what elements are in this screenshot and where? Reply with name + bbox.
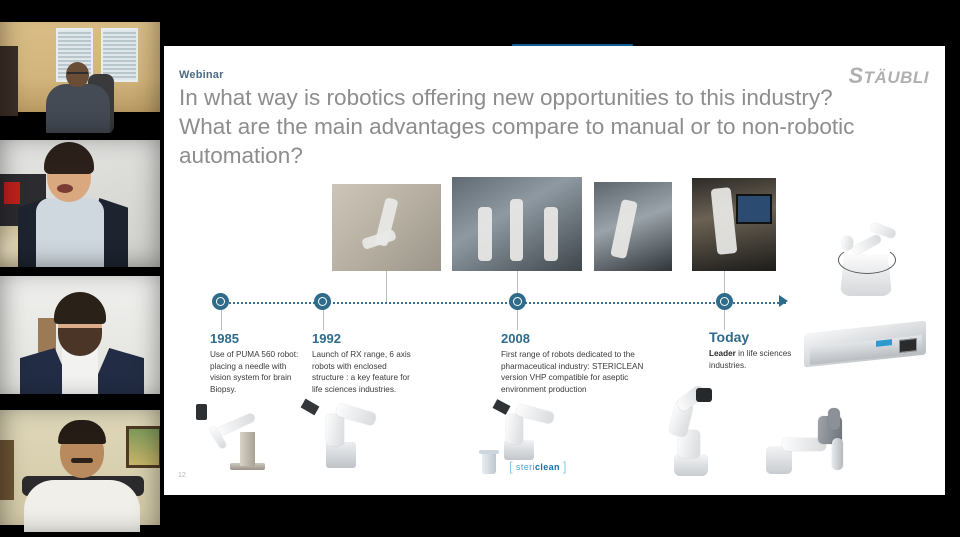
event-year: Today — [709, 329, 793, 345]
timeline-event-today: Today Leader in life sciences industries… — [709, 329, 793, 371]
participant-tile-3[interactable] — [0, 268, 160, 402]
robot-controller — [804, 319, 932, 371]
timeline-dot-today[interactable] — [716, 293, 733, 310]
event-text: Launch of RX range, 6 axis robots with e… — [312, 349, 416, 396]
robot-2008 — [494, 402, 580, 464]
robot-1985 — [196, 404, 274, 476]
event-text: Use of PUMA 560 robot: placing a needle … — [210, 349, 302, 396]
webinar-screen: Webinar STÄUBLI In what way is robotics … — [0, 0, 960, 537]
timeline-event-2008: 2008 First range of robots dedicated to … — [501, 331, 651, 396]
timeline-event-1992: 1992 Launch of RX range, 6 axis robots w… — [312, 331, 416, 396]
timeline-dot-1985[interactable] — [212, 293, 229, 310]
mobile-robot-cart — [822, 218, 914, 302]
photo-robot-arm — [594, 182, 672, 271]
timeline-arrow-icon — [779, 295, 788, 307]
event-text-bold: Leader — [709, 349, 736, 358]
robot-today-b — [760, 402, 872, 482]
event-text: Leader in life sciences industries. — [709, 348, 793, 371]
robot-1992 — [302, 402, 388, 476]
timeline-event-1985: 1985 Use of PUMA 560 robot: placing a ne… — [210, 331, 302, 396]
event-text: First range of robots dedicated to the p… — [501, 349, 651, 396]
presentation-slide: Webinar STÄUBLI In what way is robotics … — [164, 46, 945, 495]
event-year: 1992 — [312, 331, 416, 346]
participant-tile-2[interactable] — [0, 134, 160, 267]
participant-tile-4[interactable] — [0, 403, 160, 537]
photo-lab-robot — [332, 184, 441, 271]
timeline-track — [226, 302, 786, 304]
page-number: 12 — [178, 472, 186, 479]
participant-tile-1[interactable] — [0, 0, 160, 133]
robot-today-a — [652, 390, 744, 482]
participant-video-rail — [0, 0, 160, 537]
event-year: 1985 — [210, 331, 302, 346]
photo-enclosed-line — [452, 177, 582, 271]
timeline-dot-1992[interactable] — [314, 293, 331, 310]
event-year: 2008 — [501, 331, 651, 346]
photo-robot-screen — [692, 178, 776, 271]
timeline-dot-2008[interactable] — [509, 293, 526, 310]
